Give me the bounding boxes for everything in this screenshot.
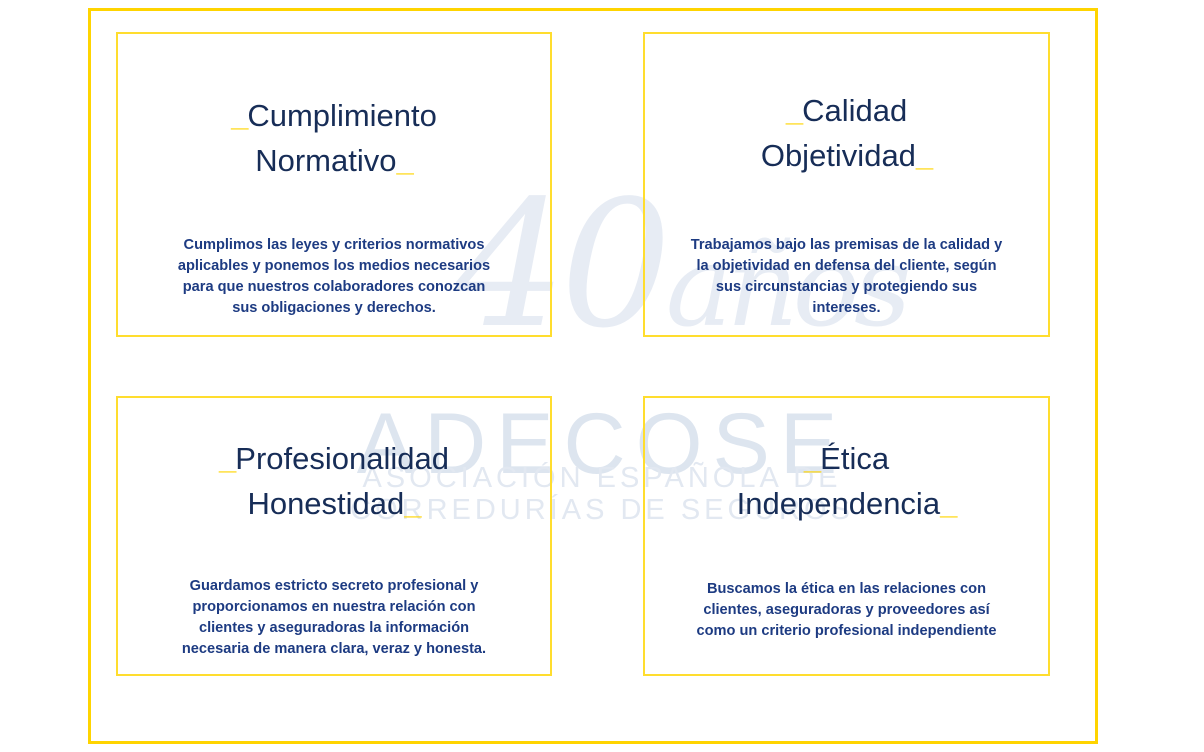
value-card-title-text2: Independencia (737, 486, 940, 521)
value-card-body: Buscamos la ética en las relaciones con … (654, 579, 1040, 642)
value-card-title: _Cumplimiento Normativo_ (231, 94, 437, 184)
value-card-body: Cumplimos las leyes y criterios normativ… (134, 235, 534, 319)
value-card-title: _Profesionalidad Honestidad_ (219, 437, 449, 527)
value-card-title-line2: Normativo_ (231, 139, 437, 184)
underscore-accent-prefix-icon: _ (786, 93, 802, 128)
underscore-accent-suffix-icon: _ (916, 138, 932, 173)
value-card-body: Trabajamos bajo las premisas de la calid… (654, 235, 1040, 319)
underscore-accent-suffix-icon: _ (397, 143, 413, 178)
underscore-accent-prefix-icon: _ (219, 441, 235, 476)
value-card-title-line2: Honestidad_ (219, 482, 449, 527)
value-card-etica-independencia: _Ética Independencia_ Buscamos la ética … (643, 396, 1050, 676)
value-card-title-line1: _Ética (737, 437, 957, 482)
value-card-title-text2: Normativo (255, 143, 396, 178)
value-card-title-line2: Objetividad_ (761, 134, 932, 179)
value-card-profesionalidad-honestidad: _Profesionalidad Honestidad_ Guardamos e… (116, 396, 552, 676)
value-card-title-line1: _Cumplimiento (231, 94, 437, 139)
underscore-accent-prefix-icon: _ (231, 98, 247, 133)
value-card-calidad-objetividad: _Calidad Objetividad_ Trabajamos bajo la… (643, 32, 1050, 337)
value-card-title: _Ética Independencia_ (737, 437, 957, 527)
value-card-title-text1: Cumplimiento (247, 98, 437, 133)
value-card-title-line1: _Calidad (761, 89, 932, 134)
underscore-accent-suffix-icon: _ (404, 486, 420, 521)
underscore-accent-prefix-icon: _ (804, 441, 820, 476)
underscore-accent-suffix-icon: _ (940, 486, 956, 521)
value-card-title: _Calidad Objetividad_ (761, 89, 932, 179)
value-card-title-text2: Honestidad (247, 486, 404, 521)
value-card-cumplimiento-normativo: _Cumplimiento Normativo_ Cumplimos las l… (116, 32, 552, 337)
value-card-title-text2: Objetividad (761, 138, 916, 173)
value-card-title-text1: Profesionalidad (235, 441, 449, 476)
value-card-title-line2: Independencia_ (737, 482, 957, 527)
value-card-title-text1: Calidad (802, 93, 907, 128)
value-card-body: Guardamos estricto secreto profesional y… (134, 576, 534, 660)
value-card-title-text1: Ética (820, 441, 889, 476)
value-card-title-line1: _Profesionalidad (219, 437, 449, 482)
